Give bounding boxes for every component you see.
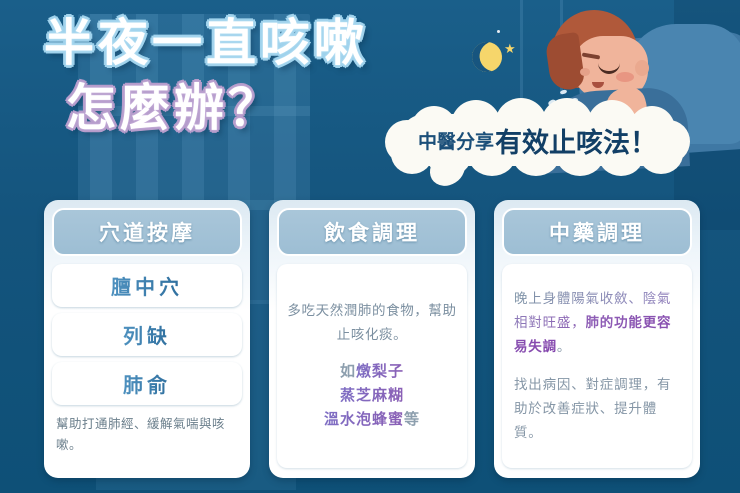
- card-herbal-therapy[interactable]: 中藥調理 晚上身體陽氣收斂、陰氣相對旺盛，肺的功能更容易失調。 找出病因、對症調…: [494, 200, 700, 478]
- card-body-acupoint: 膻中穴 列缺 肺俞 幫助打通肺經、緩解氣喘與咳嗽。: [44, 256, 250, 478]
- poster-canvas: ★ 半夜一直咳嗽 怎麼辦？: [0, 0, 740, 493]
- card-title: 飲食調理: [324, 217, 420, 247]
- food-name: 燉梨子: [356, 363, 404, 380]
- diet-food-list: 如燉梨子 蒸芝麻糊 溫水泡蜂蜜等: [324, 360, 420, 433]
- star-icon: ★: [504, 42, 516, 55]
- card-header-diet: 飲食調理: [277, 208, 467, 256]
- card-header-herbal: 中藥調理: [502, 208, 692, 256]
- card-body-diet: 多吃天然潤肺的食物，幫助止咳化痰。 如燉梨子 蒸芝麻糊 溫水泡蜂蜜等: [269, 256, 475, 478]
- food-name: 蒸芝麻糊: [340, 387, 404, 404]
- food-suffix: 等: [404, 411, 420, 428]
- list-item[interactable]: 肺俞: [52, 362, 242, 405]
- herbal-text-2: 找出病因、對症調理，有助於改善症狀、提升體質。: [514, 377, 671, 440]
- food-name: 溫水泡蜂蜜: [324, 411, 404, 428]
- acupoint-label: 列缺: [123, 320, 171, 349]
- list-item[interactable]: 膻中穴: [52, 264, 242, 307]
- card-row: 穴道按摩 膻中穴 列缺 肺俞 幫助打通肺經、緩解氣喘與咳嗽。: [44, 200, 700, 480]
- herbal-paragraph-1: 晚上身體陽氣收斂、陰氣相對旺盛，肺的功能更容易失調。: [514, 287, 680, 359]
- speech-bubble: 中醫分享 有效止咳法！: [385, 104, 690, 176]
- card-acupoint-massage[interactable]: 穴道按摩 膻中穴 列缺 肺俞 幫助打通肺經、緩解氣喘與咳嗽。: [44, 200, 250, 478]
- bubble-emphasis-text: 有效止咳法！: [495, 121, 657, 160]
- herbal-text-c: 。: [557, 339, 571, 354]
- list-item: 溫水泡蜂蜜等: [324, 408, 420, 432]
- acupoint-label: 肺俞: [123, 369, 171, 398]
- card-header-acupoint: 穴道按摩: [52, 208, 242, 256]
- acupoint-note: 幫助打通肺經、緩解氣喘與咳嗽。: [52, 414, 242, 455]
- acupoint-list: 膻中穴 列缺 肺俞: [52, 264, 242, 405]
- page-title: 半夜一直咳嗽 怎麼辦？: [44, 18, 368, 134]
- card-body-herbal: 晚上身體陽氣收斂、陰氣相對旺盛，肺的功能更容易失調。 找出病因、對症調理，有助於…: [494, 256, 700, 478]
- speech-bubble-text: 中醫分享 有效止咳法！: [385, 104, 690, 176]
- list-item: 如燉梨子: [324, 360, 420, 384]
- ear-shape: [635, 60, 649, 76]
- crescent-moon-icon: [468, 38, 506, 76]
- title-line-1: 半夜一直咳嗽: [44, 18, 368, 69]
- list-item: 蒸芝麻糊: [324, 384, 420, 408]
- herbal-panel: 晚上身體陽氣收斂、陰氣相對旺盛，肺的功能更容易失調。 找出病因、對症調理，有助於…: [502, 264, 692, 468]
- cheek-blush-shape: [616, 72, 634, 82]
- food-prefix: 如: [340, 363, 356, 380]
- diet-lead-text: 多吃天然潤肺的食物，幫助止咳化痰。: [285, 299, 459, 345]
- bubble-lead-text: 中醫分享: [418, 127, 494, 154]
- diet-panel: 多吃天然潤肺的食物，幫助止咳化痰。 如燉梨子 蒸芝麻糊 溫水泡蜂蜜等: [277, 264, 467, 468]
- card-title: 中藥調理: [549, 217, 645, 247]
- acupoint-label: 膻中穴: [111, 271, 183, 300]
- herbal-paragraph-2: 找出病因、對症調理，有助於改善症狀、提升體質。: [514, 373, 680, 445]
- title-line-2: 怎麼辦？: [66, 83, 368, 134]
- sparkle-dot-icon: [497, 30, 500, 33]
- card-diet-therapy[interactable]: 飲食調理 多吃天然潤肺的食物，幫助止咳化痰。 如燉梨子 蒸芝麻糊 溫水泡蜂蜜等: [269, 200, 475, 478]
- card-title: 穴道按摩: [99, 217, 195, 247]
- list-item[interactable]: 列缺: [52, 313, 242, 356]
- nose-shape: [580, 68, 590, 76]
